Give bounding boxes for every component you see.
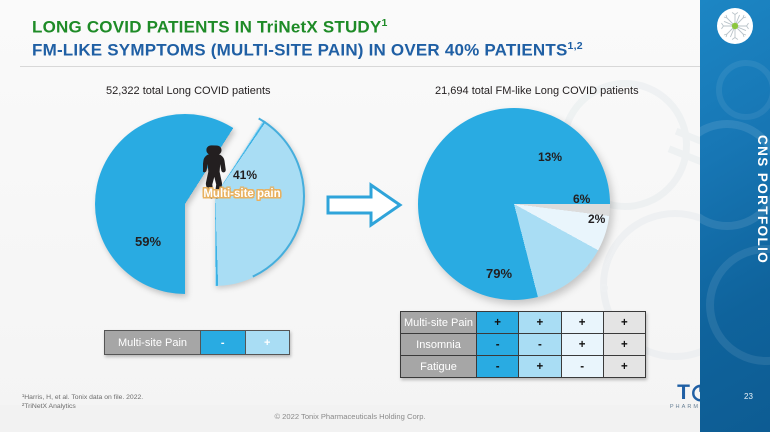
tonix-wordmark-t: T xyxy=(677,382,690,403)
right-pie-label-6: 6% xyxy=(573,192,590,206)
right-chart-caption: 21,694 total FM-like Long COVID patients xyxy=(435,85,639,97)
page-title-line-2: FM-LIKE SYMPTOMS (MULTI-SITE PAIN) IN OV… xyxy=(32,40,583,61)
multi-site-pain-legend: Multi-site Pain - + xyxy=(104,330,290,355)
table-row: Multi-site Pain + + + + xyxy=(401,312,646,334)
table-row-label-fatigue: Fatigue xyxy=(401,356,477,378)
cell-multi-site-pain-col4: + xyxy=(603,312,645,334)
slide-number: 23 xyxy=(744,392,753,401)
symptom-combination-table: Multi-site Pain + + + + Insomnia - - + +… xyxy=(400,311,646,378)
legend-cell-plus: + xyxy=(246,331,290,354)
legend-cell-minus: - xyxy=(201,331,246,354)
page-title-line-1-text: LONG COVID PATIENTS IN TriNetX STUDY xyxy=(32,18,381,37)
table-row-label-insomnia: Insomnia xyxy=(401,334,477,356)
cell-fatigue-col3: - xyxy=(561,356,603,378)
right-pie-label-13: 13% xyxy=(538,150,562,164)
cell-fatigue-col4: + xyxy=(603,356,645,378)
footnote-2: ²TriNetX Analytics xyxy=(22,402,143,411)
cns-portfolio-label: CNS PORTFOLIO xyxy=(700,48,770,348)
neuron-icon xyxy=(717,8,753,44)
right-pie-label-79: 79% xyxy=(486,266,512,281)
cell-fatigue-col1: - xyxy=(477,356,519,378)
right-arrow-icon xyxy=(325,180,403,230)
legend-row-label: Multi-site Pain xyxy=(105,331,201,354)
left-pie-label-41: 41% xyxy=(233,168,257,182)
cell-insomnia-col1: - xyxy=(477,334,519,356)
right-pie-label-2: 2% xyxy=(588,212,605,226)
copyright-text: © 2022 Tonix Pharmaceuticals Holding Cor… xyxy=(0,412,700,421)
cell-insomnia-col2: - xyxy=(519,334,561,356)
table-row-label-multi-site-pain: Multi-site Pain xyxy=(401,312,477,334)
title-divider xyxy=(20,66,710,67)
cell-multi-site-pain-col2: + xyxy=(519,312,561,334)
footnote-1: ¹Harris, H, et al. Tonix data on file. 2… xyxy=(22,393,143,402)
page-title-line-2-text: FM-LIKE SYMPTOMS (MULTI-SITE PAIN) IN OV… xyxy=(32,41,568,60)
left-chart-caption: 52,322 total Long COVID patients xyxy=(106,85,271,97)
right-pie-chart: 13% 6% 2% 79% xyxy=(418,108,618,308)
cell-insomnia-col3: + xyxy=(561,334,603,356)
slide-canvas: LONG COVID PATIENTS IN TriNetX STUDY1 FM… xyxy=(0,0,770,432)
cell-multi-site-pain-col1: + xyxy=(477,312,519,334)
multi-site-pain-annotation: Multi-site pain xyxy=(199,188,285,201)
page-title-line-1-footnote-ref: 1 xyxy=(381,17,387,29)
cell-fatigue-col2: + xyxy=(519,356,561,378)
table-row: Insomnia - - + + xyxy=(401,334,646,356)
page-title-line-2-footnote-ref: 1,2 xyxy=(568,40,583,52)
page-title-line-1: LONG COVID PATIENTS IN TriNetX STUDY1 xyxy=(32,17,388,38)
left-pie-label-59: 59% xyxy=(135,234,161,249)
cell-insomnia-col4: + xyxy=(603,334,645,356)
cns-portfolio-side-panel: CNS PORTFOLIO xyxy=(700,0,770,432)
footnotes: ¹Harris, H, et al. Tonix data on file. 2… xyxy=(22,393,143,411)
cell-multi-site-pain-col3: + xyxy=(561,312,603,334)
left-pie-chart: 59% 41% Multi-site pain xyxy=(95,106,305,306)
table-row: Fatigue - + - + xyxy=(401,356,646,378)
